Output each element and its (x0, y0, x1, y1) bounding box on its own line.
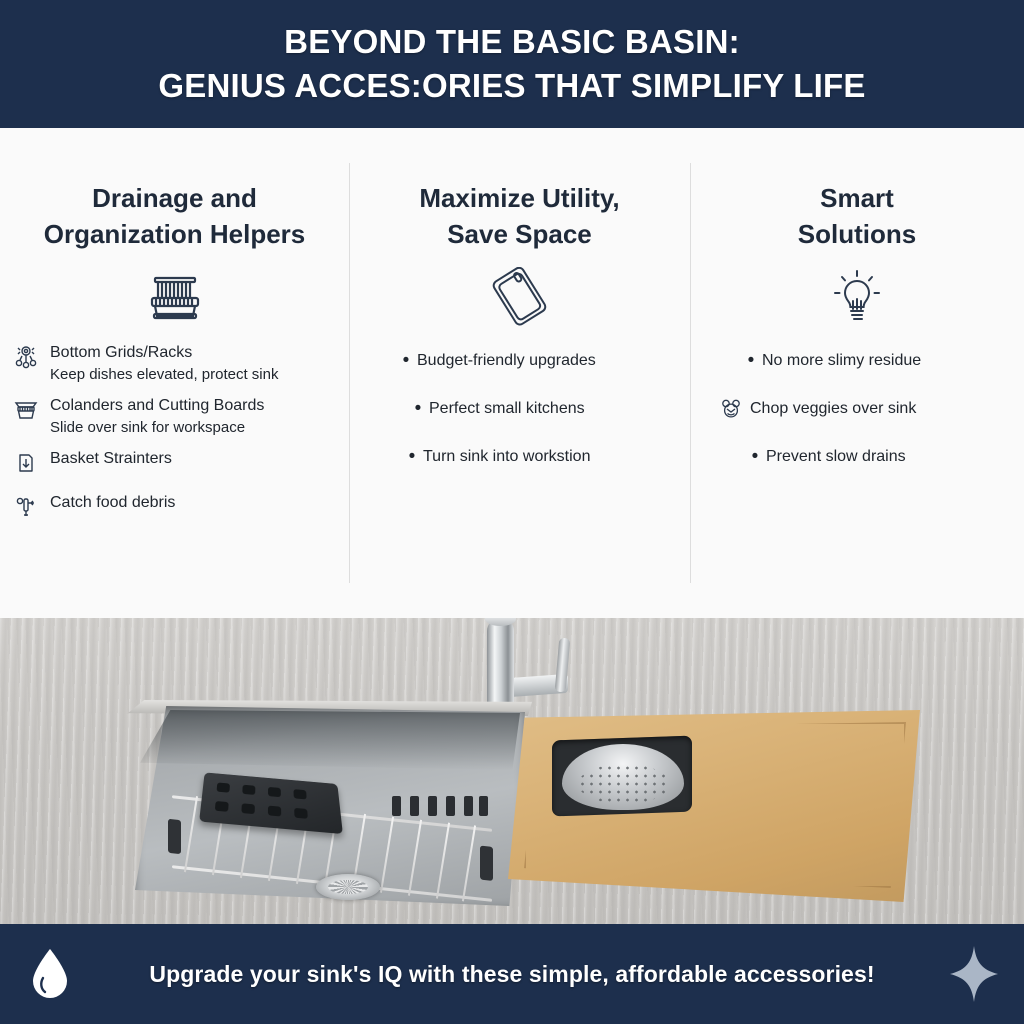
column-3-title-line-1: Smart (704, 180, 1010, 216)
bullet-icon: • (401, 446, 423, 468)
list-item[interactable]: Catch food debris (12, 492, 337, 522)
grid-rack-icon (12, 342, 40, 372)
colander-icon (12, 395, 40, 425)
bullet-icon: • (740, 350, 762, 372)
water-droplet-icon (0, 946, 100, 1002)
list-item-label: Chop veggies over sink (742, 398, 1012, 420)
column-2-title-line-1: Maximize Utility, (363, 180, 676, 216)
footer-message: Upgrade your sink's IQ with these simple… (100, 961, 924, 988)
bullet-icon: • (395, 350, 417, 372)
list-item-label: Perfect small kitchens (429, 398, 678, 420)
colander-perforations (578, 764, 670, 804)
footer-banner: Upgrade your sink's IQ with these simple… (0, 924, 1024, 1024)
cutting-board-icon (349, 266, 690, 328)
black-utensil-comb (392, 796, 488, 816)
list-item[interactable]: • No more slimy residue (714, 350, 1012, 372)
infographic-page: BEYOND THE BASIC BASIN: GENIUS ACCES:ORI… (0, 0, 1024, 1024)
list-item-label: No more slimy residue (762, 350, 1012, 372)
sink-drain-strainer (316, 874, 380, 900)
list-item-text: Colanders and Cutting Boards Slide over … (50, 395, 337, 438)
column-3-title-line-2: Solutions (704, 216, 1010, 252)
header-title-line-1: BEYOND THE BASIC BASIN: (284, 20, 740, 64)
list-item[interactable]: Chop veggies over sink (714, 398, 1012, 420)
bullet-icon: • (744, 446, 766, 468)
column-2-list: • Budget-friendly upgrades • Perfect sma… (349, 350, 690, 468)
columns-section: Drainage and Organization Helpers (0, 128, 1024, 618)
list-item-text: Basket Strainters (50, 448, 337, 470)
column-smart-solutions: Smart Solutions • No more slimy residue (690, 128, 1024, 618)
vegetable-icon (720, 398, 742, 420)
header-banner: BEYOND THE BASIC BASIN: GENIUS ACCES:ORI… (0, 0, 1024, 128)
column-2-title-line-2: Save Space (363, 216, 676, 252)
column-2-title: Maximize Utility, Save Space (349, 180, 690, 252)
list-item[interactable]: Basket Strainters (12, 448, 337, 478)
sink-photo (0, 618, 1024, 924)
food-debris-icon (12, 492, 40, 522)
list-item-title: Colanders and Cutting Boards (50, 397, 264, 414)
sink-strainer-basket-icon (0, 266, 349, 328)
column-1-title: Drainage and Organization Helpers (0, 180, 349, 252)
column-3-title: Smart Solutions (690, 180, 1024, 252)
list-item[interactable]: • Turn sink into workstion (395, 446, 678, 468)
list-item-subtitle: Keep dishes elevated, protect sink (50, 364, 337, 385)
list-item-title: Catch food debris (50, 494, 175, 511)
column-1-title-line-2: Organization Helpers (14, 216, 335, 252)
basket-strainer-icon (12, 448, 40, 478)
list-item-text: Catch food debris (50, 492, 337, 514)
list-item-label: Prevent slow drains (766, 446, 1012, 468)
list-item-subtitle: Slide over sink for workspace (50, 417, 337, 438)
column-3-list: • No more slimy residue Chop veggies ove… (690, 350, 1024, 468)
list-item[interactable]: Colanders and Cutting Boards Slide over … (12, 395, 337, 438)
list-item-text: Bottom Grids/Racks Keep dishes elevated,… (50, 342, 337, 385)
list-item-label: Turn sink into workstion (423, 446, 678, 468)
lightbulb-icon (690, 266, 1024, 328)
list-item[interactable]: • Prevent slow drains (714, 446, 1012, 468)
list-item[interactable]: • Perfect small kitchens (395, 398, 678, 420)
column-maximize-utility: Maximize Utility, Save Space • Budget-fr… (349, 128, 690, 618)
column-drainage-organization: Drainage and Organization Helpers (0, 128, 349, 618)
list-item[interactable]: • Budget-friendly upgrades (395, 350, 678, 372)
bullet-icon: • (407, 398, 429, 420)
column-1-title-line-1: Drainage and (14, 180, 335, 216)
sparkle-icon (924, 945, 1024, 1003)
header-title-line-2: GENIUS ACCES:ORIES THAT SIMPLIFY LIFE (158, 64, 865, 108)
sink-inner-shadow (140, 710, 520, 770)
list-item-title: Basket Strainters (50, 450, 172, 467)
list-item[interactable]: Bottom Grids/Racks Keep dishes elevated,… (12, 342, 337, 385)
column-1-list: Bottom Grids/Racks Keep dishes elevated,… (0, 342, 349, 522)
list-item-title: Bottom Grids/Racks (50, 344, 192, 361)
list-item-label: Budget-friendly upgrades (417, 350, 678, 372)
